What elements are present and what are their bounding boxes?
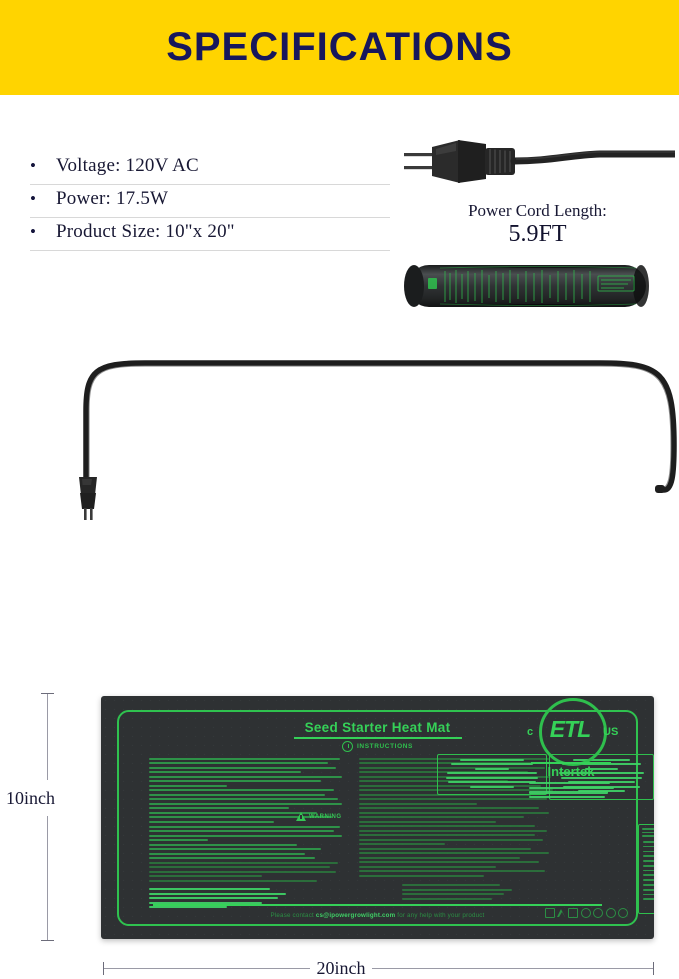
bullet-icon: • bbox=[30, 223, 56, 240]
spec-power: Power: 17.5W bbox=[56, 188, 168, 210]
page-title: SPECIFICATIONS bbox=[166, 25, 513, 70]
footer-text-before: Please contact bbox=[271, 912, 316, 919]
no-fold-icon bbox=[581, 908, 591, 918]
power-cord-section: Power Cord Length: 5.9FT bbox=[400, 135, 675, 317]
footer-text-after: for any help with your product bbox=[395, 912, 484, 919]
mat-footer-icon-row bbox=[545, 908, 628, 918]
height-dimension-label: 10inch bbox=[6, 788, 55, 809]
mat-power-cord-icon bbox=[0, 325, 679, 657]
instructions-label: INSTRUCTIONS bbox=[357, 743, 413, 750]
no-puncture-icon bbox=[593, 908, 603, 918]
warning-text-left bbox=[149, 826, 344, 911]
house-icon bbox=[558, 909, 566, 917]
list-item: • Power: 17.5W bbox=[30, 185, 390, 218]
germination-temperature-table: 70° - 85° F bbox=[638, 824, 654, 914]
warning-header: WARNING bbox=[296, 812, 342, 821]
spec-product-size: Product Size: 10"x 20" bbox=[56, 221, 235, 243]
heat-mat-illustration: 10inch 20inch Seed Starter Heat Mat INST… bbox=[0, 325, 679, 657]
support-email: cs@ipowergrowlight.com bbox=[316, 912, 396, 919]
warning-text-right bbox=[359, 830, 555, 902]
etl-mark: ETL bbox=[539, 698, 601, 760]
width-dimension-label: 20inch bbox=[310, 958, 372, 979]
us-two-prong-plug-icon bbox=[400, 135, 675, 195]
heat-mat-body: Seed Starter Heat Mat INSTRUCTIONS bbox=[101, 696, 654, 939]
specifications-banner: SPECIFICATIONS bbox=[0, 0, 679, 95]
mat-title-underline bbox=[294, 737, 462, 739]
spec-voltage: Voltage: 120V AC bbox=[56, 155, 199, 177]
no-heat-icon bbox=[618, 908, 628, 918]
info-circle-icon bbox=[342, 741, 353, 752]
no-water-icon bbox=[606, 908, 616, 918]
etl-brand: Intertek bbox=[535, 764, 607, 779]
specification-list: • Voltage: 120V AC • Power: 17.5W • Prod… bbox=[30, 152, 390, 251]
bullet-icon: • bbox=[30, 190, 56, 207]
warning-triangle-icon bbox=[296, 812, 306, 821]
power-cord-length-value: 5.9FT bbox=[400, 221, 675, 247]
warning-label: WARNING bbox=[309, 814, 342, 820]
recycle-icon bbox=[545, 908, 555, 918]
etl-us-mark: US bbox=[603, 726, 618, 738]
list-item: • Voltage: 120V AC bbox=[30, 152, 390, 185]
compliance-text-block bbox=[529, 782, 615, 801]
etl-c-mark: c bbox=[527, 726, 533, 738]
germination-crop-column bbox=[643, 841, 654, 903]
bullet-icon: • bbox=[30, 157, 56, 174]
germination-table-header bbox=[642, 828, 654, 839]
rolled-heat-mat-icon bbox=[400, 255, 675, 317]
power-cord-length-label: Power Cord Length: bbox=[400, 201, 675, 221]
leaf-icon bbox=[568, 908, 578, 918]
height-dimension-line bbox=[47, 693, 48, 941]
mat-footer-divider bbox=[153, 904, 602, 906]
width-dimension-line bbox=[103, 968, 654, 969]
list-item: • Product Size: 10"x 20" bbox=[30, 218, 390, 251]
